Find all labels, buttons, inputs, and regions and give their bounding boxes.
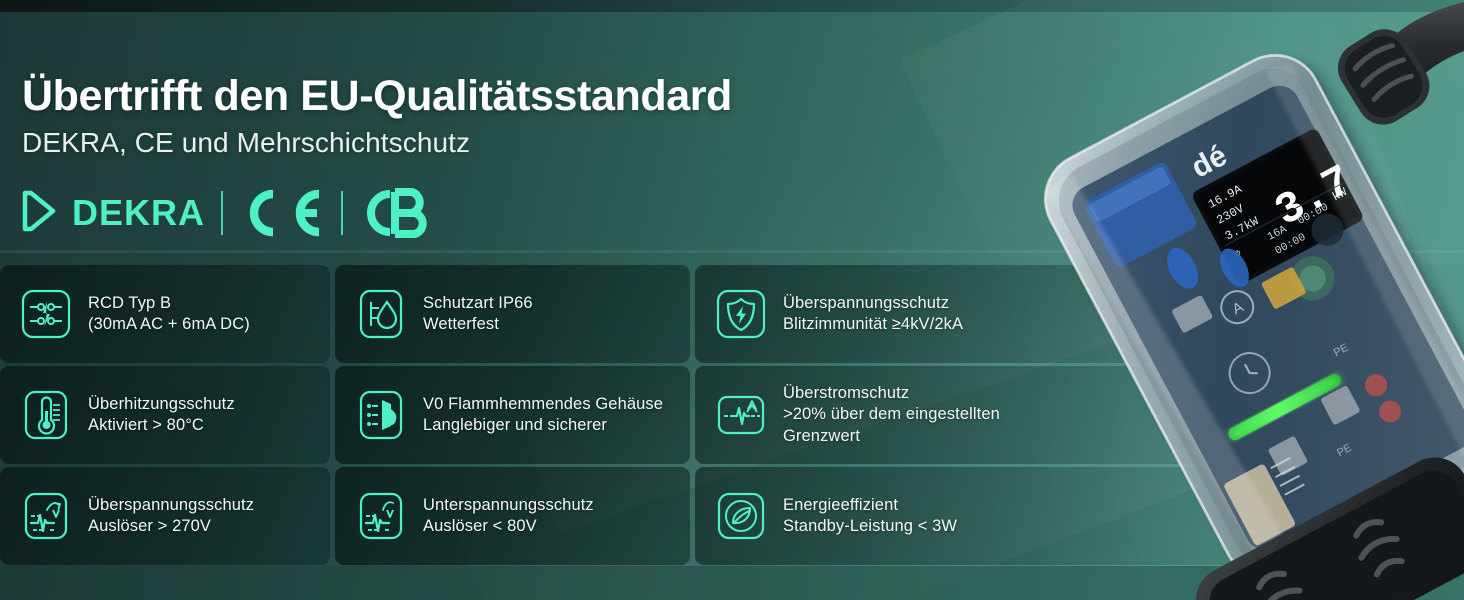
feature-line: Auslöser > 270V: [88, 516, 254, 537]
feature-text: RCD Typ B (30mA AC + 6mA DC): [88, 293, 250, 336]
feature-text: Überspannungsschutz Auslöser > 270V: [88, 495, 254, 538]
feature-card-overheat[interactable]: Überhitzungsschutz Aktiviert > 80°C: [0, 366, 330, 464]
page-subtitle: DEKRA, CE und Mehrschichtschutz: [22, 127, 962, 159]
product-image-ev-charger: dé 16.9A 230V 3.7kW 3.7 kW ⊘ 16A 00: [980, 0, 1464, 600]
certification-cb: [359, 188, 431, 238]
dekra-label: DEKRA: [72, 195, 205, 231]
overvoltage-waveform-icon: [20, 490, 72, 542]
feature-text: Energieeffizient Standby-Leistung < 3W: [783, 495, 957, 538]
feature-line: >20% über dem eingestellten: [783, 404, 1000, 425]
ce-mark-icon: [239, 188, 325, 238]
energy-leaf-icon: [715, 490, 767, 542]
feature-card-rcd[interactable]: RCD Typ B (30mA AC + 6mA DC): [0, 265, 330, 363]
feature-line: Überspannungsschutz: [783, 293, 963, 314]
feature-line: Energieeffizient: [783, 495, 957, 516]
feature-text: V0 Flammhemmendes Gehäuse Langlebiger un…: [423, 394, 663, 437]
feature-line: Überhitzungsschutz: [88, 394, 235, 415]
feature-line: Langlebiger und sicherer: [423, 415, 663, 436]
feature-text: Überstromschutz >20% über dem eingestell…: [783, 383, 1000, 447]
product-feature-banner: Übertrifft den EU-Qualitätsstandard DEKR…: [0, 0, 1464, 600]
page-title: Übertrifft den EU-Qualitätsstandard: [22, 74, 962, 119]
feature-line: (30mA AC + 6mA DC): [88, 314, 250, 335]
feature-line: Unterspannungsschutz: [423, 495, 594, 516]
dekra-arrow-icon: [22, 189, 64, 238]
feature-line: Grenzwert: [783, 426, 1000, 447]
feature-text: Überspannungsschutz Blitzimmunität ≥4kV/…: [783, 293, 963, 336]
feature-line: Aktiviert > 80°C: [88, 415, 235, 436]
feature-text: Unterspannungsschutz Auslöser < 80V: [423, 495, 594, 538]
thermometer-icon: [20, 389, 72, 441]
feature-line: Auslöser < 80V: [423, 516, 594, 537]
certification-logos: DEKRA: [22, 188, 431, 238]
feature-line: Überspannungsschutz: [88, 495, 254, 516]
feature-text: Überhitzungsschutz Aktiviert > 80°C: [88, 394, 235, 437]
feature-card-ip66[interactable]: Schutzart IP66 Wetterfest: [335, 265, 690, 363]
feature-line: Überstromschutz: [783, 383, 1000, 404]
shield-bolt-icon: [715, 288, 767, 340]
headline-block: Übertrifft den EU-Qualitätsstandard DEKR…: [22, 74, 962, 159]
feature-line: V0 Flammhemmendes Gehäuse: [423, 394, 663, 415]
overcurrent-waveform-icon: [715, 389, 767, 441]
feature-card-flame-retardant[interactable]: V0 Flammhemmendes Gehäuse Langlebiger un…: [335, 366, 690, 464]
rcd-breaker-icon: [20, 288, 72, 340]
feature-card-overvoltage[interactable]: Überspannungsschutz Auslöser > 270V: [0, 467, 330, 565]
feature-card-undervoltage[interactable]: Unterspannungsschutz Auslöser < 80V: [335, 467, 690, 565]
feature-line: Standby-Leistung < 3W: [783, 516, 957, 537]
certification-dekra: DEKRA: [22, 189, 205, 238]
feature-line: Blitzimmunität ≥4kV/2kA: [783, 314, 963, 335]
feature-line: Schutzart IP66: [423, 293, 533, 314]
feature-line: Wetterfest: [423, 314, 533, 335]
feature-text: Schutzart IP66 Wetterfest: [423, 293, 533, 336]
cert-divider-2: [341, 191, 343, 235]
undervoltage-waveform-icon: [355, 490, 407, 542]
water-drop-ip-icon: [355, 288, 407, 340]
flame-retardant-icon: [355, 389, 407, 441]
cert-divider-1: [221, 191, 223, 235]
certification-ce: [239, 188, 325, 238]
cb-mark-icon: [359, 188, 431, 238]
feature-line: RCD Typ B: [88, 293, 250, 314]
